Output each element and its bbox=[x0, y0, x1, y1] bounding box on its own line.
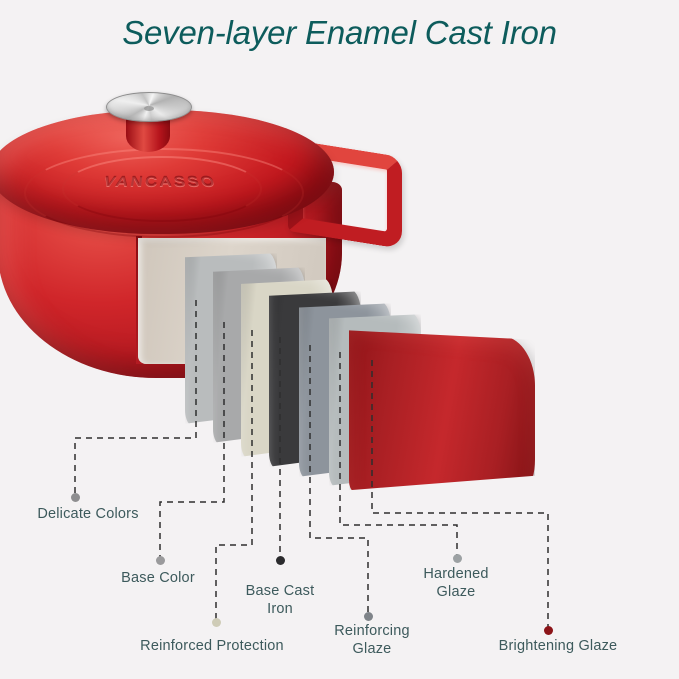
infographic-page: Seven-layer Enamel Cast Iron VANCASSO bbox=[0, 0, 679, 679]
callout-label-base-cast-iron: Base Cast Iron bbox=[232, 582, 328, 618]
callout-label-base-color: Base Color bbox=[108, 569, 208, 587]
callout-label-delicate-colors: Delicate Colors bbox=[24, 505, 152, 523]
callout-dot-hardened-glaze bbox=[453, 554, 462, 563]
callout-dot-brightening-glaze bbox=[544, 626, 553, 635]
callout-label-brightening-glaze: Brightening Glaze bbox=[478, 637, 638, 655]
callout-label-reinforcing-glaze: Reinforcing Glaze bbox=[322, 622, 422, 658]
callout-dot-delicate-colors bbox=[71, 493, 80, 502]
callout-dot-base-cast-iron bbox=[276, 556, 285, 565]
layer-brightening-glaze bbox=[349, 320, 535, 510]
callout-dot-reinforced-protection bbox=[212, 618, 221, 627]
callout-label-reinforced-protection: Reinforced Protection bbox=[122, 637, 302, 655]
callout-label-hardened-glaze: Hardened Glaze bbox=[406, 565, 506, 601]
callout-dot-base-color bbox=[156, 556, 165, 565]
callout-dot-reinforcing-glaze bbox=[364, 612, 373, 621]
layer-stack bbox=[0, 0, 679, 679]
